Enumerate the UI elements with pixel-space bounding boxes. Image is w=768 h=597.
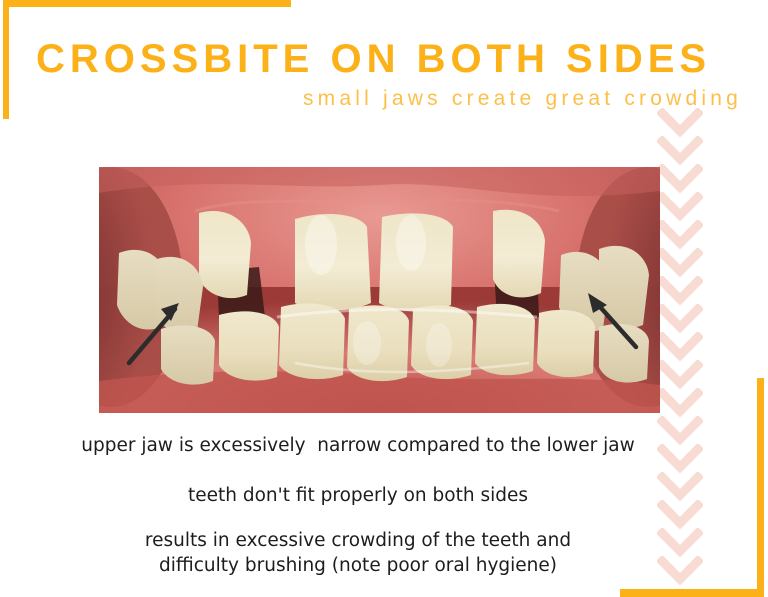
page-title: CROSSBITE ON BOTH SIDES [36,36,736,82]
chevron-down-icon [657,276,703,306]
caption-line-2: teeth don't fit properly on both sides [0,484,716,508]
chevron-down-icon [657,332,703,362]
chevron-down-icon [657,248,703,278]
chevron-down-icon [657,108,703,138]
caption-line-1: upper jaw is excessively narrow compared… [0,434,716,458]
chevron-down-icon [657,360,703,390]
chevron-down-icon [657,304,703,334]
chevron-down-icon [657,388,703,418]
caption-line-3: results in excessive crowding of the tee… [0,528,716,578]
page-subtitle: small jaws create great crowding [0,86,742,112]
chevron-down-icon [657,164,703,194]
chevron-down-icon [657,136,703,166]
intraoral-frontal-photo-crossbite [99,167,660,413]
corner-bracket-bottom-right-vertical [757,378,764,597]
chevron-rail [655,108,707,590]
chevron-down-icon [657,192,703,222]
poster-canvas: CROSSBITE ON BOTH SIDES small jaws creat… [0,0,768,597]
corner-bracket-bottom-right-horizontal [620,589,764,597]
chevron-down-icon [657,220,703,250]
corner-bracket-top-left-horizontal [3,0,291,7]
